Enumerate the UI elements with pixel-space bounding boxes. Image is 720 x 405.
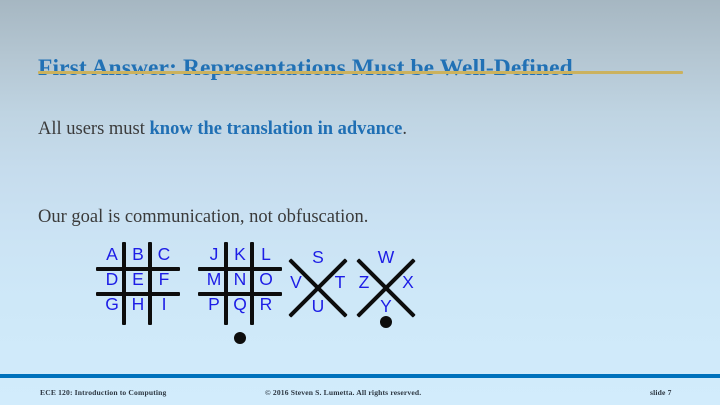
body-paragraph-1: All users must know the translation in a… bbox=[38, 117, 468, 141]
cipher-letter: C bbox=[152, 244, 176, 264]
body-paragraph-2: Our goal is communication, not obfuscati… bbox=[38, 205, 558, 229]
cipher-letter: P bbox=[202, 294, 226, 314]
cipher-letter: R bbox=[254, 294, 278, 314]
cipher-letter: A bbox=[100, 244, 124, 264]
cipher-letter: E bbox=[126, 269, 150, 289]
cipher-letter: W bbox=[374, 247, 398, 267]
page-title: First Answer: Representations Must be We… bbox=[38, 54, 688, 82]
cipher-letter: B bbox=[126, 244, 150, 264]
cipher-letter: X bbox=[396, 272, 420, 292]
cipher-letter: V bbox=[284, 272, 308, 292]
pigpen-cipher-diagram: A B C D E F G H I J K L M N O P Q R bbox=[88, 240, 448, 355]
grid-line-horizontal bbox=[198, 267, 282, 271]
cipher-grid-j-r: J K L M N O P Q R bbox=[190, 240, 290, 355]
slide-canvas: First Answer: Representations Must be We… bbox=[0, 0, 720, 405]
cipher-letter: L bbox=[254, 244, 278, 264]
grid-line-horizontal bbox=[198, 292, 282, 296]
title-divider-rule bbox=[38, 71, 683, 74]
cipher-letter: N bbox=[228, 269, 252, 289]
cipher-letter: I bbox=[152, 294, 176, 314]
cipher-letter: S bbox=[306, 247, 330, 267]
cipher-letter: K bbox=[228, 244, 252, 264]
cipher-letter: M bbox=[202, 269, 226, 289]
cipher-letter: Z bbox=[352, 272, 376, 292]
cipher-letter: H bbox=[126, 294, 150, 314]
cipher-letter: O bbox=[254, 269, 278, 289]
cipher-letter: Q bbox=[228, 294, 252, 314]
footer-copyright-label: © 2016 Steven S. Lumetta. All rights res… bbox=[265, 388, 421, 397]
cipher-grid-a-i: A B C D E F G H I bbox=[88, 240, 188, 355]
cipher-letter: F bbox=[152, 269, 176, 289]
cipher-letter: G bbox=[100, 294, 124, 314]
cipher-letter: D bbox=[100, 269, 124, 289]
footer-course-label: ECE 120: Introduction to Computing bbox=[40, 388, 166, 397]
body-text-tail: . bbox=[402, 119, 407, 139]
cipher-letter: T bbox=[328, 272, 352, 292]
cipher-letter: U bbox=[306, 296, 330, 316]
cipher-dot bbox=[234, 332, 246, 344]
cipher-letter: Y bbox=[374, 296, 398, 316]
grid-line-vertical bbox=[122, 242, 126, 325]
body-text-emphasis: know the translation in advance bbox=[150, 119, 403, 139]
footer-slide-number: slide 7 bbox=[650, 388, 672, 397]
grid-line-vertical bbox=[224, 242, 228, 325]
grid-line-vertical bbox=[250, 242, 254, 325]
footer-divider-bar bbox=[0, 374, 720, 378]
cipher-letter: J bbox=[202, 244, 226, 264]
cipher-dot bbox=[380, 316, 392, 328]
body-text-lead: All users must bbox=[38, 119, 150, 139]
grid-line-horizontal bbox=[96, 267, 180, 271]
grid-line-horizontal bbox=[96, 292, 180, 296]
cipher-grid-w-z: W Z X Y bbox=[356, 240, 456, 355]
grid-line-vertical bbox=[148, 242, 152, 325]
